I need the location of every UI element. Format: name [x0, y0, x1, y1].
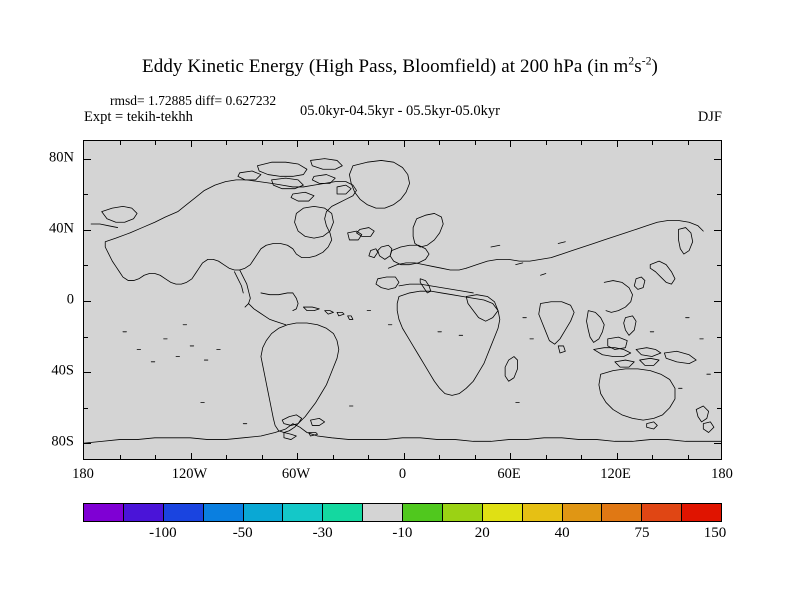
x-tick-0: [404, 453, 405, 459]
figure-title-main: Eddy Kinetic Energy (High Pass, Bloomfie…: [142, 56, 628, 77]
y-tick-0: [84, 301, 91, 302]
x-axis-label-0: 0: [399, 466, 406, 483]
x-tick-minor-140w: [155, 455, 156, 459]
x-tick-minor-100w: [226, 455, 227, 459]
y-tick-minor-right-20s: [717, 337, 721, 338]
x-tick-minor-140e: [652, 455, 653, 459]
colorbar-swatch-14: [642, 504, 682, 521]
x-tick-60e: [510, 453, 511, 459]
x-tick-minor-top-160e: [688, 141, 689, 145]
period-label: 05.0kyr-04.5kyr - 05.5kyr-05.0kyr: [0, 103, 800, 120]
x-tick-minor-20w: [368, 455, 369, 459]
x-tick-top-120w: [191, 141, 192, 147]
colorbar-swatch-3: [204, 504, 244, 521]
y-axis-label-0: 0: [67, 292, 74, 309]
figure-title: Eddy Kinetic Energy (High Pass, Bloomfie…: [0, 56, 800, 78]
colorbar-swatch-9: [443, 504, 483, 521]
colorbar-swatch-12: [563, 504, 603, 521]
y-tick-right-80n: [714, 159, 721, 160]
y-tick-40s: [84, 372, 91, 373]
x-tick-minor-40w: [333, 455, 334, 459]
x-tick-120w: [191, 453, 192, 459]
y-tick-minor-right-60n: [717, 194, 721, 195]
colorbar: [83, 503, 722, 522]
colorbar-swatch-2: [164, 504, 204, 521]
colorbar-swatch-1: [124, 504, 164, 521]
x-tick-minor-80e: [546, 455, 547, 459]
colorbar-swatch-13: [602, 504, 642, 521]
y-tick-80n: [84, 159, 91, 160]
x-axis-label-60e: 60E: [497, 466, 520, 483]
y-tick-minor-20n: [84, 265, 88, 266]
colorbar-swatch-4: [244, 504, 284, 521]
figure-title-exponent-2: -2: [642, 56, 652, 68]
y-tick-right-40n: [714, 230, 721, 231]
x-tick-120e: [617, 453, 618, 459]
colorbar-swatch-11: [523, 504, 563, 521]
x-tick-minor-top-140w: [155, 141, 156, 145]
y-tick-80s: [84, 443, 91, 444]
colorbar-label--30: -30: [313, 525, 333, 542]
colorbar-label-20: 20: [475, 525, 490, 542]
x-tick-60w: [297, 453, 298, 459]
x-tick-minor-top-100w: [226, 141, 227, 145]
x-tick-minor-20e: [439, 455, 440, 459]
x-tick-minor-top-80e: [546, 141, 547, 145]
colorbar-swatch-7: [363, 504, 403, 521]
x-axis-label-60w: 60W: [282, 466, 310, 483]
x-tick-minor-160e: [688, 455, 689, 459]
colorbar-swatch-8: [403, 504, 443, 521]
y-axis-label-40s: 40S: [51, 363, 74, 380]
x-tick-top-60e: [510, 141, 511, 147]
x-tick-minor-top-140e: [652, 141, 653, 145]
colorbar-swatch-15: [682, 504, 721, 521]
colorbar-label--100: -100: [149, 525, 177, 542]
y-tick-right-0: [714, 301, 721, 302]
world-coastline-map: [84, 141, 721, 459]
x-axis-label-120w: 120W: [172, 466, 207, 483]
x-tick-minor-top-160w: [120, 141, 121, 145]
map-plot-area: [83, 140, 722, 460]
x-tick-minor-top-100e: [581, 141, 582, 145]
figure-title-mid: s: [634, 56, 642, 77]
y-axis-label-40n: 40N: [49, 220, 74, 237]
y-axis-label-80n: 80N: [49, 149, 74, 166]
colorbar-label--10: -10: [392, 525, 412, 542]
colorbar-label-150: 150: [704, 525, 727, 542]
y-tick-minor-60n: [84, 194, 88, 195]
colorbar-swatch-6: [323, 504, 363, 521]
x-axis-label-180w: 180: [72, 466, 94, 483]
x-tick-top-0: [404, 141, 405, 147]
y-tick-minor-right-20n: [717, 265, 721, 266]
x-tick-top-120e: [617, 141, 618, 147]
colorbar-swatch-0: [84, 504, 124, 521]
y-tick-minor-20s: [84, 337, 88, 338]
colorbar-label-40: 40: [555, 525, 570, 542]
x-tick-top-60w: [297, 141, 298, 147]
y-tick-minor-right-60s: [717, 408, 721, 409]
y-tick-minor-60s: [84, 408, 88, 409]
y-tick-right-80s: [714, 443, 721, 444]
x-tick-minor-80w: [262, 455, 263, 459]
figure-title-end: ): [652, 56, 658, 77]
x-tick-minor-top-20e: [439, 141, 440, 145]
x-axis-label-180e: 180: [711, 466, 733, 483]
x-tick-minor-100e: [581, 455, 582, 459]
colorbar-label-75: 75: [635, 525, 650, 542]
colorbar-swatch-10: [483, 504, 523, 521]
colorbar-swatch-5: [283, 504, 323, 521]
y-tick-right-40s: [714, 372, 721, 373]
colorbar-label--50: -50: [233, 525, 253, 542]
x-axis-label-120e: 120E: [600, 466, 631, 483]
x-tick-minor-top-80w: [262, 141, 263, 145]
x-tick-minor-40e: [475, 455, 476, 459]
x-tick-minor-top-40e: [475, 141, 476, 145]
y-tick-40n: [84, 230, 91, 231]
y-axis-label-80s: 80S: [51, 434, 74, 451]
x-tick-minor-top-20w: [368, 141, 369, 145]
x-tick-minor-160w: [120, 455, 121, 459]
season-label: DJF: [698, 109, 722, 126]
x-tick-minor-top-40w: [333, 141, 334, 145]
